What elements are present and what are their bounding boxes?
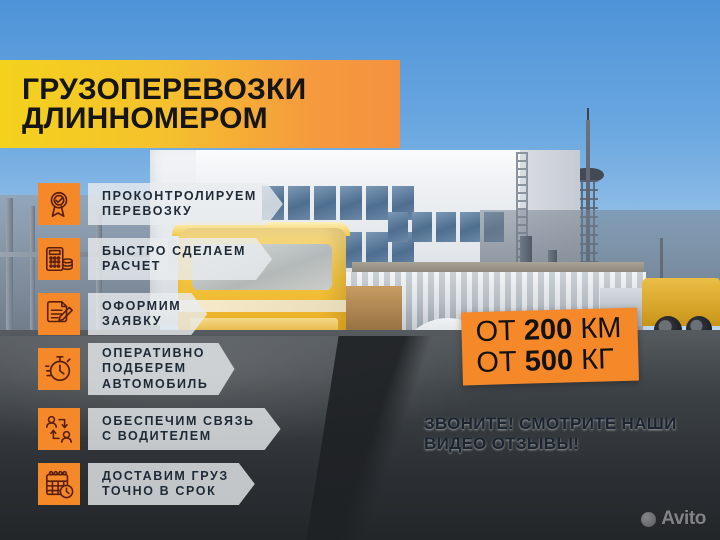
feature-text-line-1: ПРОКОНТРОЛИРУЕМ	[102, 189, 257, 204]
cta-line-2: ВИДЕО ОТЗЫВЫ!	[424, 434, 677, 454]
feature-item: ОФОРМИМ ЗАЯВКУ	[38, 293, 207, 335]
feature-text-line-1: БЫСТРО СДЕЛАЕМ	[102, 244, 246, 259]
headline-banner: ГРУЗОПЕРЕВОЗКИ ДЛИННОМЕРОМ	[0, 60, 400, 148]
feature-text-line-1: ОФОРМИМ	[102, 299, 181, 314]
feature-banner: ПРОКОНТРОЛИРУЕМ ПЕРЕВОЗКУ	[88, 183, 283, 225]
price-prefix-2: ОТ	[476, 345, 525, 378]
feature-item: ОБЕСПЕЧИМ СВЯЗЬ С ВОДИТЕЛЕМ	[38, 408, 281, 450]
feature-text-line-1: ОБЕСПЕЧИМ СВЯЗЬ	[102, 414, 255, 429]
price-conditions-box: ОТ 200 КМ ОТ 500 КГ	[461, 308, 639, 386]
feature-banner: ОБЕСПЕЧИМ СВЯЗЬ С ВОДИТЕЛЕМ	[88, 408, 281, 450]
cta-line-1: ЗВОНИТЕ! СМОТРИТЕ НАШИ	[424, 414, 677, 434]
left-pipe-2	[30, 206, 35, 330]
price-unit-1: КМ	[572, 312, 622, 345]
price-prefix-1: ОТ	[475, 315, 524, 348]
price-unit-2: КГ	[573, 343, 615, 376]
feature-item: ОПЕРАТИВНО ПОДБЕРЕМ АВТОМОБИЛЬ	[38, 348, 235, 390]
calculator-coins-icon	[38, 238, 80, 280]
advert-image: ГРУЗОПЕРЕВОЗКИ ДЛИННОМЕРОМ ПРОКОНТРОЛИРУ…	[0, 0, 720, 540]
price-value-1: 200	[523, 313, 572, 346]
avito-watermark-text: Avito	[661, 508, 706, 530]
feature-text-line-2: ЗАЯВКУ	[102, 314, 181, 329]
feature-banner: ОФОРМИМ ЗАЯВКУ	[88, 293, 207, 335]
avito-watermark: Avito	[641, 508, 706, 530]
feature-text-line-2: ТОЧНО В СРОК	[102, 484, 229, 499]
feature-text-line-2: ПОДБЕРЕМ	[102, 361, 209, 376]
price-value-2: 500	[524, 344, 573, 377]
feature-text-line-2: РАСЧЕТ	[102, 259, 246, 274]
headline-line-2: ДЛИННОМЕРОМ	[22, 104, 400, 133]
feature-banner: ОПЕРАТИВНО ПОДБЕРЕМ АВТОМОБИЛЬ	[88, 343, 235, 395]
people-exchange-icon	[38, 408, 80, 450]
award-badge-icon	[38, 183, 80, 225]
second-truck-cab	[642, 278, 720, 326]
feature-text-line-1: ОПЕРАТИВНО	[102, 346, 209, 361]
feature-item: ПРОКОНТРОЛИРУЕМ ПЕРЕВОЗКУ	[38, 183, 283, 225]
feature-text-line-1: ДОСТАВИМ ГРУЗ	[102, 469, 229, 484]
calendar-clock-icon	[38, 463, 80, 505]
price-line-weight: ОТ 500 КГ	[476, 344, 623, 379]
document-pencil-icon	[38, 293, 80, 335]
feature-item: БЫСТРО СДЕЛАЕМ РАСЧЕТ	[38, 238, 272, 280]
feature-banner: ДОСТАВИМ ГРУЗ ТОЧНО В СРОК	[88, 463, 255, 505]
feature-banner: БЫСТРО СДЕЛАЕМ РАСЧЕТ	[88, 238, 272, 280]
call-to-action: ЗВОНИТЕ! СМОТРИТЕ НАШИ ВИДЕО ОТЗЫВЫ!	[424, 414, 677, 453]
feature-text-line-2: С ВОДИТЕЛЕМ	[102, 429, 255, 444]
feature-text-line-2: ПЕРЕВОЗКУ	[102, 204, 257, 219]
feature-item: ДОСТАВИМ ГРУЗ ТОЧНО В СРОК	[38, 463, 255, 505]
left-pipe-1	[6, 198, 13, 330]
stopwatch-icon	[38, 348, 80, 390]
feature-text-line-3: АВТОМОБИЛЬ	[102, 377, 209, 392]
avito-logo-icon	[641, 512, 656, 527]
headline-line-1: ГРУЗОПЕРЕВОЗКИ	[22, 75, 400, 104]
